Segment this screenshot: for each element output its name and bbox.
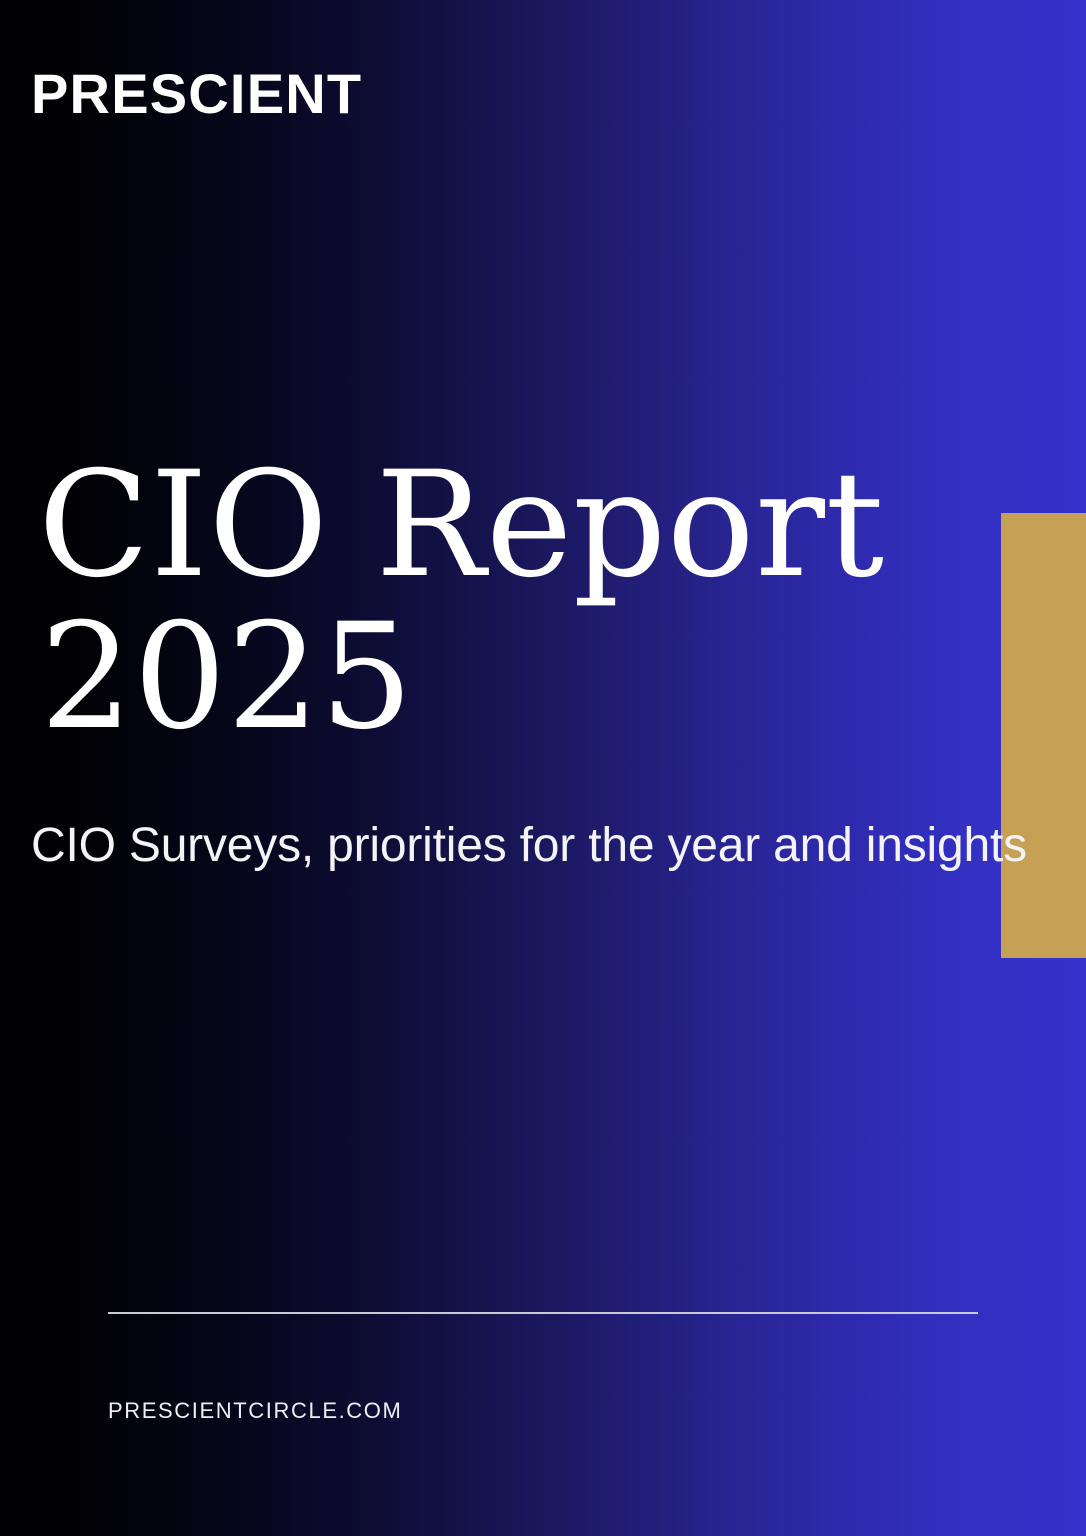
- gold-accent-block: [1001, 513, 1086, 958]
- page-title: CIO Report 2025: [38, 452, 998, 750]
- page-title-line-2: 2025: [38, 604, 998, 750]
- footer-website-url: PRESCIENTCIRCLE.COM: [108, 1398, 402, 1424]
- report-cover-page: PRESCIENT CIO Report 2025 CIO Surveys, p…: [0, 0, 1086, 1536]
- page-subtitle: CIO Surveys, priorities for the year and…: [31, 818, 1021, 873]
- footer-divider: [108, 1312, 978, 1314]
- page-title-line-1: CIO Report: [38, 452, 998, 598]
- brand-logo: PRESCIENT: [31, 66, 362, 122]
